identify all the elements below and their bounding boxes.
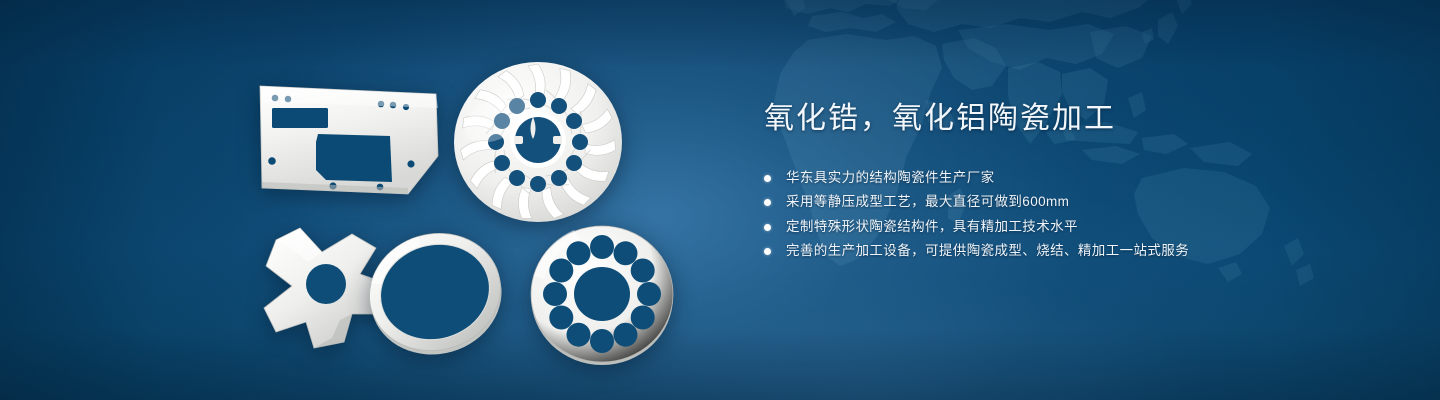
bullet-dot-icon xyxy=(764,224,771,231)
banner-feature-list: 华东具实力的结构陶瓷件生产厂家 采用等静压成型工艺，最大直径可做到600mm 定… xyxy=(764,166,1384,264)
feature-text: 华东具实力的结构陶瓷件生产厂家 xyxy=(786,170,995,185)
ceramic-plate-image xyxy=(248,78,450,206)
banner-text-block: 氧化锆，氧化铝陶瓷加工 华东具实力的结构陶瓷件生产厂家 采用等静压成型工艺，最大… xyxy=(764,100,1384,264)
bullet-dot-icon xyxy=(764,175,771,182)
feature-list-item: 定制特殊形状陶瓷结构件，具有精加工技术水平 xyxy=(764,215,1384,240)
feature-text: 定制特殊形状陶瓷结构件，具有精加工技术水平 xyxy=(786,219,1078,234)
feature-list-item: 完善的生产加工设备，可提供陶瓷成型、烧结、精加工一站式服务 xyxy=(764,239,1384,264)
feature-text: 完善的生产加工设备，可提供陶瓷成型、烧结、精加工一站式服务 xyxy=(786,243,1189,258)
feature-list-item: 采用等静压成型工艺，最大直径可做到600mm xyxy=(764,190,1384,215)
bullet-dot-icon xyxy=(764,248,771,255)
product-image-group xyxy=(0,0,740,400)
bullet-dot-icon xyxy=(764,199,771,206)
ceramic-impeller-image xyxy=(446,52,630,228)
feature-text: 采用等静压成型工艺，最大直径可做到600mm xyxy=(786,194,1069,209)
ceramic-perforated-disc-image xyxy=(524,222,680,366)
ceramic-ring-image xyxy=(352,222,518,360)
banner-headline: 氧化锆，氧化铝陶瓷加工 xyxy=(764,100,1384,138)
feature-list-item: 华东具实力的结构陶瓷件生产厂家 xyxy=(764,166,1384,191)
promo-banner: 氧化锆，氧化铝陶瓷加工 华东具实力的结构陶瓷件生产厂家 采用等静压成型工艺，最大… xyxy=(0,0,1440,400)
